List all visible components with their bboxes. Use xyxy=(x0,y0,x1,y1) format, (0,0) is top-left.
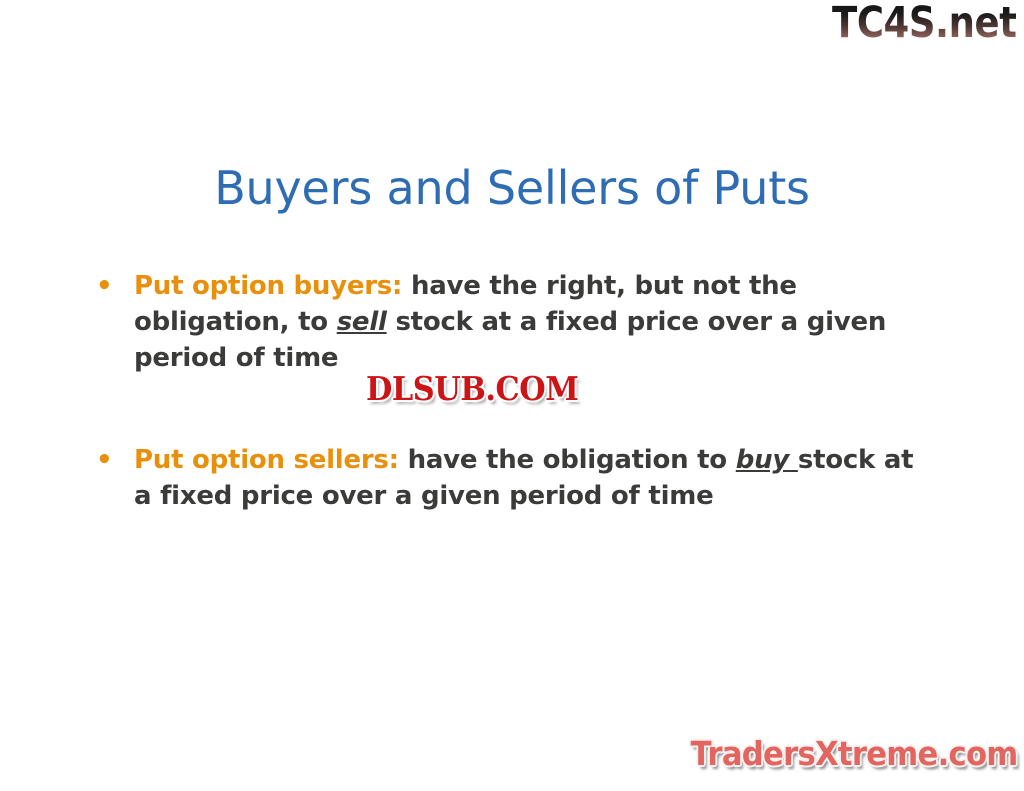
bullet-dot-icon: • xyxy=(96,268,134,304)
list-item-emphasis: sell xyxy=(337,307,387,337)
list-item-emphasis: buy xyxy=(736,445,798,475)
watermark-dlsub: DLSUB.COM xyxy=(366,371,578,407)
list-item-text: Put option sellers: have the obligation … xyxy=(134,442,934,514)
list-item-lead: Put option buyers: xyxy=(134,271,402,301)
page-title: Buyers and Sellers of Puts xyxy=(0,160,1024,216)
list-item-text: Put option buyers: have the right, but n… xyxy=(134,268,934,376)
bullet-dot-icon: • xyxy=(96,442,134,478)
watermark-tc4s: TC4S.net xyxy=(832,2,1016,45)
watermark-tradersxtreme: TradersXtreme.com xyxy=(691,735,1018,773)
list-item-body-before: have the obligation to xyxy=(399,445,736,475)
presentation-slide: TC4S.net Buyers and Sellers of Puts • Pu… xyxy=(0,0,1024,791)
list-item-lead: Put option sellers: xyxy=(134,445,399,475)
list-item: • Put option sellers: have the obligatio… xyxy=(96,442,938,514)
list-item: • Put option buyers: have the right, but… xyxy=(96,268,938,376)
